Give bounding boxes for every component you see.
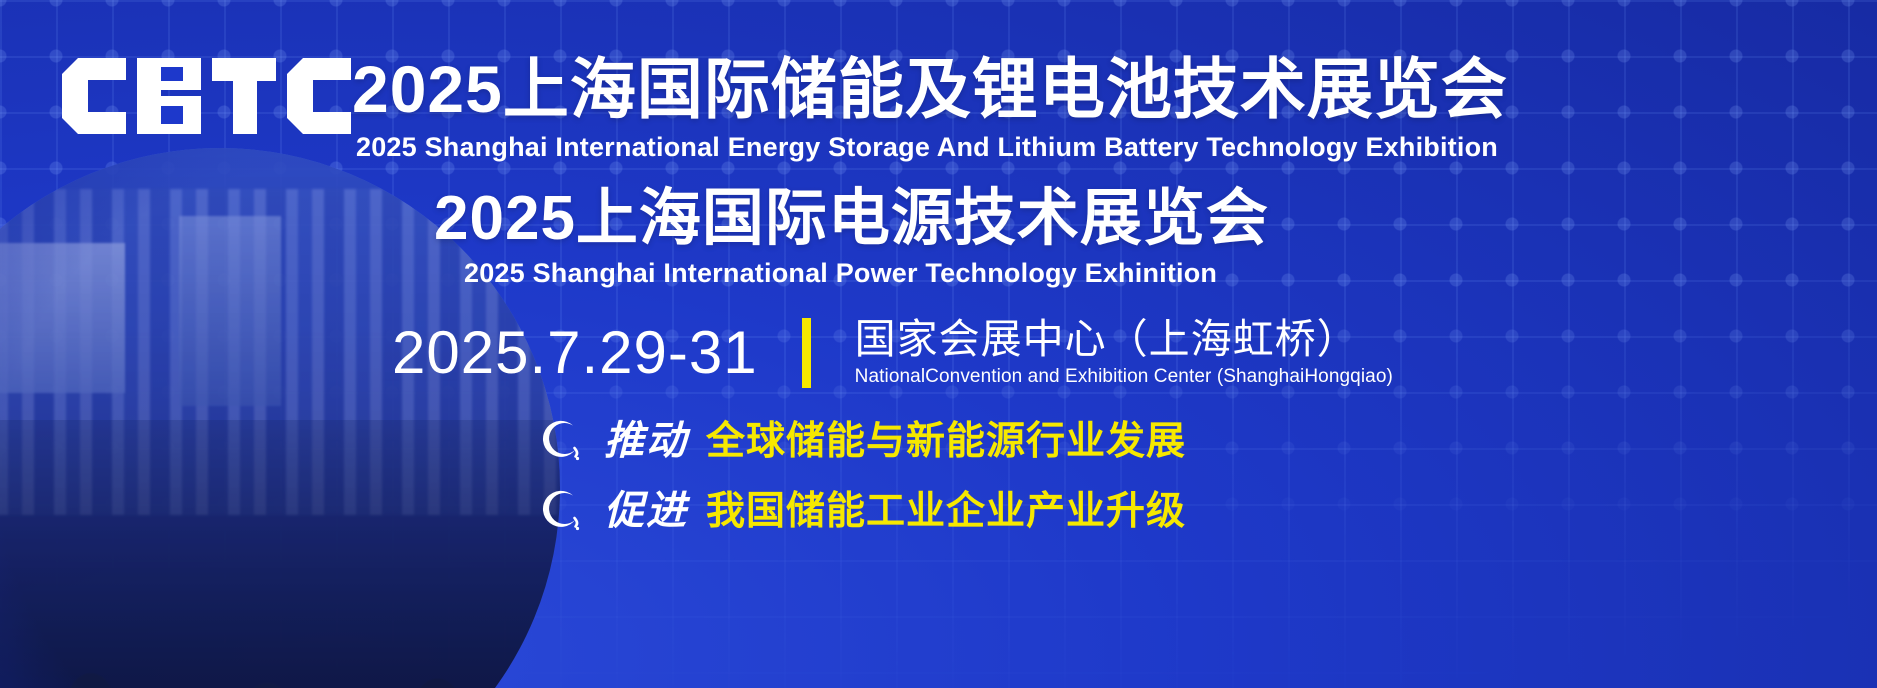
slogan-verb: 促进 bbox=[604, 491, 688, 531]
slogan-verb: 推动 bbox=[604, 421, 688, 461]
event-venue: 国家会展中心（上海虹桥） NationalConvention and Exhi… bbox=[855, 319, 1393, 388]
slogan-item: 推动 全球储能与新能源行业发展 bbox=[540, 418, 1186, 464]
logo-letter-c1 bbox=[62, 58, 126, 134]
slogan-text: 我国储能工业企业产业升级 bbox=[706, 492, 1186, 531]
slogan-text: 全球储能与新能源行业发展 bbox=[706, 422, 1186, 461]
secondary-title-cn: 2025上海国际电源技术展览会 bbox=[434, 188, 1269, 250]
event-date: 2025.7.29-31 bbox=[392, 323, 758, 383]
slogan-item: 促进 我国储能工业企业产业升级 bbox=[540, 488, 1186, 534]
main-title-cn: 2025上海国际储能及锂电池技术展览会 bbox=[352, 56, 1508, 122]
logo-letter-c2 bbox=[287, 58, 351, 134]
venue-name-en: NationalConvention and Exhibition Center… bbox=[855, 366, 1393, 388]
brush-circle-icon bbox=[540, 418, 586, 464]
secondary-title-en: 2025 Shanghai International Power Techno… bbox=[464, 258, 1217, 289]
banner-content: 2025上海国际储能及锂电池技术展览会 2025 Shanghai Intern… bbox=[0, 0, 1877, 688]
event-info-row: 2025.7.29-31 国家会展中心（上海虹桥） NationalConven… bbox=[392, 318, 1393, 388]
yellow-divider bbox=[802, 318, 811, 388]
cbtc-logo bbox=[62, 56, 351, 134]
event-banner: 2025上海国际储能及锂电池技术展览会 2025 Shanghai Intern… bbox=[0, 0, 1877, 688]
logo-letter-b bbox=[137, 58, 201, 134]
brush-circle-icon bbox=[540, 488, 586, 534]
main-title-en: 2025 Shanghai International Energy Stora… bbox=[356, 132, 1498, 163]
venue-name-cn: 国家会展中心（上海虹桥） bbox=[855, 319, 1393, 360]
slogan-list: 推动 全球储能与新能源行业发展 促进 我国储能工业企业产业升级 bbox=[540, 418, 1186, 534]
logo-letter-t bbox=[212, 58, 276, 134]
